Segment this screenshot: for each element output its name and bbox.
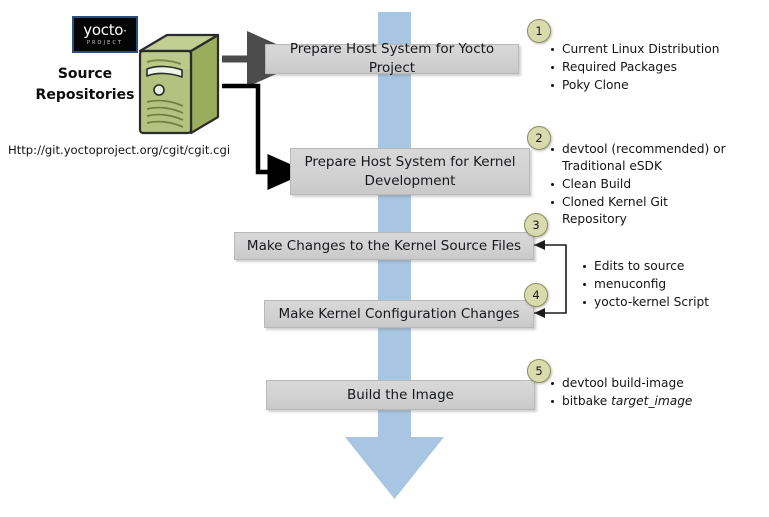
step-badge-2: 2 [527, 126, 551, 150]
notes-list: devtool (recommended) or Traditional eSD… [550, 141, 730, 228]
note-item: Current Linux Distribution [550, 41, 765, 58]
yocto-logo-word-text: yocto [83, 21, 123, 39]
process-box-label: Make Changes to the Kernel Source Files [247, 237, 521, 256]
process-box-make-kernel-source-changes[interactable]: Make Changes to the Kernel Source Files [234, 232, 534, 260]
flow-arrow-head [345, 437, 444, 499]
note-item-text: yocto-kernel Script [594, 295, 709, 309]
note-item-text: Current Linux Distribution [562, 42, 719, 56]
yocto-logo-wordmark: yocto· [83, 23, 126, 39]
step-number: 1 [535, 24, 542, 38]
note-item-text: devtool (recommended) or Traditional eSD… [562, 142, 726, 173]
note-item-text: Cloned Kernel Git Repository [562, 195, 668, 226]
note-item-text: menuconfig [594, 277, 666, 291]
note-item: menuconfig [582, 276, 767, 293]
notes-group-step-2: devtool (recommended) or Traditional eSD… [550, 141, 730, 229]
step-badge-3: 3 [524, 213, 548, 237]
note-item-text: Poky Clone [562, 78, 629, 92]
notes-group-step-3-4: Edits to source menuconfig yocto-kernel … [582, 258, 767, 312]
process-box-make-kernel-config-changes[interactable]: Make Kernel Configuration Changes [264, 300, 534, 328]
note-item: Poky Clone [550, 77, 765, 94]
process-box-label: Build the Image [347, 386, 454, 405]
note-item: devtool build-image [550, 375, 750, 392]
note-item-text: bitbake [562, 394, 611, 408]
step-badge-4: 4 [524, 283, 548, 307]
notes-group-step-1: Current Linux Distribution Required Pack… [550, 41, 765, 95]
note-item-text: devtool build-image [562, 376, 684, 390]
process-box-build-image[interactable]: Build the Image [266, 380, 535, 410]
source-repositories-label: Source Repositories [30, 64, 140, 106]
note-item: devtool (recommended) or Traditional eSD… [550, 141, 730, 175]
step-number: 2 [535, 131, 542, 145]
step-number: 3 [532, 218, 539, 232]
yocto-logo-subtext: PROJECT [87, 40, 123, 47]
notes-list: devtool build-image bitbake target_image [550, 375, 750, 410]
note-item: bitbake target_image [550, 393, 750, 410]
source-repositories-label-line2: Repositories [30, 85, 140, 106]
step-number: 4 [532, 288, 539, 302]
note-item: yocto-kernel Script [582, 294, 767, 311]
process-box-prepare-host-yocto[interactable]: Prepare Host System for Yocto Project [265, 44, 519, 74]
note-item: Clean Build [550, 176, 730, 193]
process-box-prepare-host-kernel[interactable]: Prepare Host System for Kernel Developme… [290, 148, 530, 195]
note-item-text: Edits to source [594, 259, 684, 273]
note-item: Required Packages [550, 59, 765, 76]
notes-list: Edits to source menuconfig yocto-kernel … [582, 258, 767, 311]
process-box-label: Make Kernel Configuration Changes [278, 305, 519, 324]
diagram-canvas: yocto· PROJECT Source Repositories Http:… [0, 0, 769, 517]
server-icon [136, 29, 222, 139]
source-repositories-url: Http://git.yoctoproject.org/cgit/cgit.cg… [8, 143, 230, 157]
note-item-text: Clean Build [562, 177, 631, 191]
process-box-label: Prepare Host System for Kernel Developme… [291, 153, 529, 191]
step-badge-1: 1 [527, 19, 551, 43]
yocto-logo-dot: · [123, 24, 127, 38]
notes-group-step-5: devtool build-image bitbake target_image [550, 375, 750, 411]
note-item: Edits to source [582, 258, 767, 275]
step-number: 5 [535, 364, 542, 378]
notes-list: Current Linux Distribution Required Pack… [550, 41, 765, 94]
source-repositories-label-line1: Source [30, 64, 140, 85]
process-box-label: Prepare Host System for Yocto Project [266, 40, 518, 78]
step-badge-5: 5 [527, 359, 551, 383]
note-item: Cloned Kernel Git Repository [550, 194, 730, 228]
note-item-emphasis: target_image [611, 394, 692, 408]
yocto-project-logo: yocto· PROJECT [72, 16, 138, 53]
note-item-text: Required Packages [562, 60, 677, 74]
